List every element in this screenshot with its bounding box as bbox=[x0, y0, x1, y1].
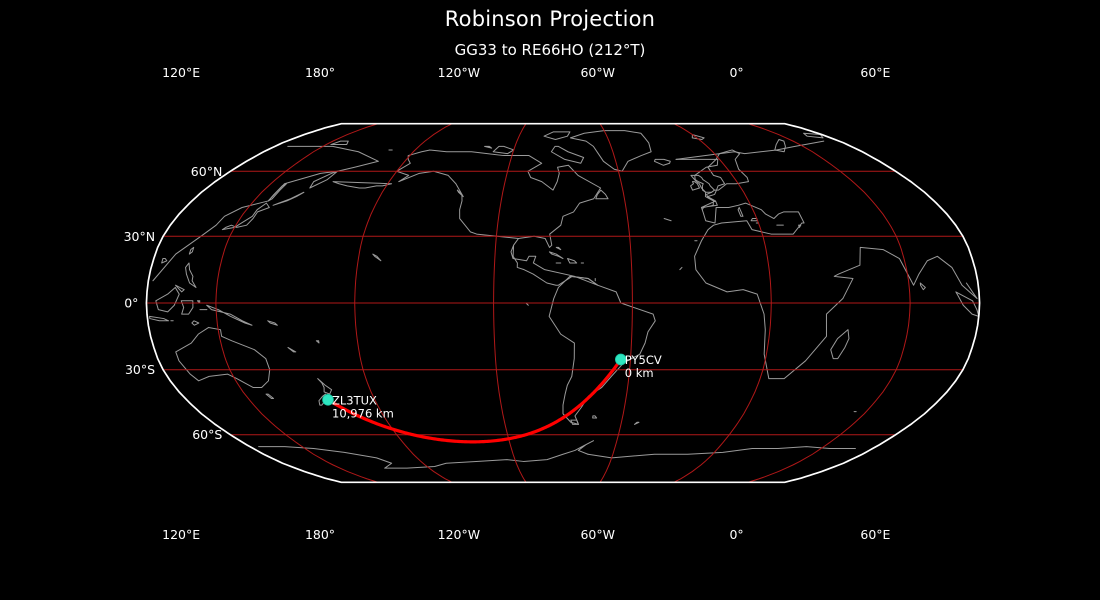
lat-tick-1: 30°N bbox=[124, 229, 156, 244]
lon-tick-bottom-1: 180° bbox=[305, 527, 335, 542]
coastline-new-caledonia bbox=[288, 347, 296, 351]
coastline-taiwan bbox=[189, 247, 193, 254]
coastline-kamchatka bbox=[310, 171, 338, 188]
coastline-novaya-zemlya bbox=[775, 139, 786, 151]
coastline-victoria-is bbox=[493, 146, 514, 153]
coastline-s-america bbox=[549, 276, 655, 424]
coastline-baffin bbox=[551, 146, 583, 163]
lat-tick-2: 0° bbox=[124, 296, 138, 311]
station-markers-layer: PY5CV0 kmZL3TUX10,976 km bbox=[323, 353, 662, 420]
lon-tick-top-3: 60°W bbox=[580, 65, 615, 80]
lon-tick-top-1: 180° bbox=[305, 65, 335, 80]
coastline-solomon bbox=[268, 321, 278, 325]
lon-tick-top-4: 0° bbox=[729, 65, 743, 80]
coastline-borneo bbox=[156, 287, 179, 311]
coastline-antarctica bbox=[259, 441, 594, 468]
coastline-sakhalin bbox=[268, 184, 286, 201]
coastline-greenland bbox=[570, 131, 651, 172]
coastline-hawaii bbox=[373, 254, 381, 261]
coastline-cape-verde bbox=[680, 267, 682, 269]
chart-subtitle: GG33 to RE66HO (212°T) bbox=[0, 41, 1100, 59]
lon-tick-bottom-2: 120°W bbox=[438, 527, 480, 542]
coastline-ellesmere bbox=[544, 132, 570, 140]
map-figure: Robinson Projection GG33 to RE66HO (212°… bbox=[0, 0, 1100, 600]
station-callsign-py5cv: PY5CV bbox=[625, 353, 662, 367]
coastline-aleutians bbox=[333, 182, 392, 188]
coastline-java bbox=[150, 316, 169, 320]
coastline-hispaniola bbox=[568, 259, 577, 263]
lon-tick-top-2: 120°W bbox=[438, 65, 480, 80]
coastline-sri-lanka bbox=[920, 283, 925, 290]
coastline-new-siberian bbox=[331, 141, 348, 144]
world-map-canvas: PY5CV0 kmZL3TUX10,976 km 120°E120°E180°1… bbox=[0, 0, 1100, 600]
coastline-cuba bbox=[549, 252, 563, 259]
coastline-iceland bbox=[654, 159, 670, 165]
lon-tick-bottom-5: 60°E bbox=[860, 527, 890, 542]
coastline-fiji bbox=[316, 341, 319, 343]
coastline-hainan bbox=[162, 259, 167, 263]
lat-tick-3: 30°S bbox=[125, 362, 155, 377]
coastline-new-zealand-n bbox=[318, 379, 332, 395]
coastline-falklands bbox=[593, 416, 597, 418]
coastline-banks-is bbox=[485, 146, 492, 148]
coastline-philippines bbox=[186, 263, 196, 287]
lon-tick-top-5: 60°E bbox=[860, 65, 890, 80]
coastline-madagascar bbox=[831, 330, 849, 359]
coastline-hokkaido-kuril bbox=[273, 192, 304, 205]
lat-tick-0: 60°N bbox=[191, 164, 223, 179]
coastline-newfoundland bbox=[596, 190, 608, 199]
coastline-timor bbox=[192, 321, 199, 325]
coastline-japan bbox=[222, 203, 269, 230]
coastline-tasmania bbox=[266, 394, 273, 398]
coastline-cyprus bbox=[799, 225, 801, 227]
coastline-australia bbox=[176, 327, 270, 387]
coastline-bahamas bbox=[556, 247, 561, 249]
coastline-azores bbox=[664, 219, 671, 221]
coastline-corsica-sardinia bbox=[738, 208, 743, 217]
page-title: Robinson Projection bbox=[0, 7, 1100, 31]
lon-tick-bottom-3: 60°W bbox=[580, 527, 615, 542]
station-distance-zl3tux: 10,976 km bbox=[332, 406, 394, 420]
lon-tick-bottom-4: 0° bbox=[729, 527, 743, 542]
lon-tick-top-0: 120°E bbox=[162, 65, 200, 80]
lat-tick-4: 60°S bbox=[192, 427, 222, 442]
coastline-south-georgia bbox=[635, 422, 639, 424]
station-distance-py5cv: 0 km bbox=[625, 366, 654, 380]
coastline-new-guinea bbox=[207, 305, 252, 325]
station-callsign-zl3tux: ZL3TUX bbox=[332, 393, 377, 407]
coastline-eurasia-africa bbox=[676, 150, 977, 379]
graticule-layer bbox=[146, 124, 979, 483]
coastline-eurasia-africa bbox=[676, 141, 824, 159]
lon-tick-bottom-0: 120°E bbox=[162, 527, 200, 542]
coastline-eurasia-africa bbox=[153, 146, 378, 280]
